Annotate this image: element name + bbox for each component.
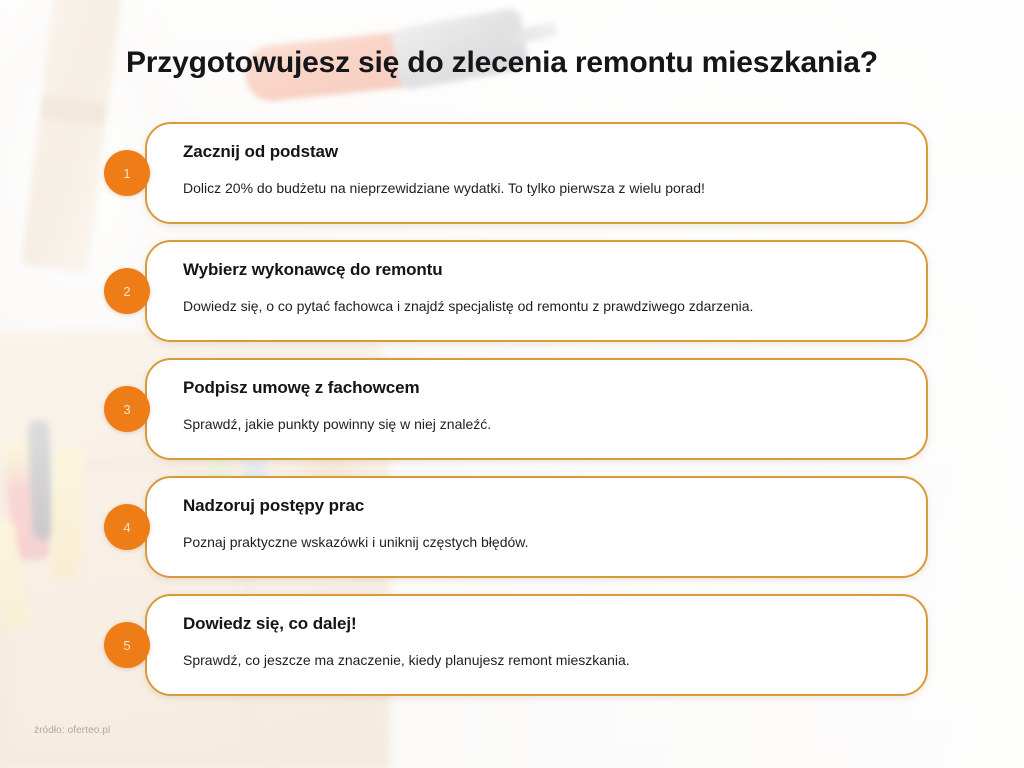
step-card[interactable]: Dowiedz się, co dalej! Sprawdź, co jeszc… [145,594,928,696]
list-item[interactable]: 5 Dowiedz się, co dalej! Sprawdź, co jes… [104,594,928,696]
step-description: Dolicz 20% do budżetu na nieprzewidziane… [183,179,900,198]
step-number-badge: 5 [104,622,150,668]
list-item[interactable]: 2 Wybierz wykonawcę do remontu Dowiedz s… [104,240,928,342]
step-title: Nadzoruj postępy prac [183,496,900,516]
step-title: Wybierz wykonawcę do remontu [183,260,900,280]
step-number-badge: 3 [104,386,150,432]
step-description: Sprawdź, jakie punkty powinny się w niej… [183,415,900,434]
list-item[interactable]: 1 Zacznij od podstaw Dolicz 20% do budże… [104,122,928,224]
list-item[interactable]: 4 Nadzoruj postępy prac Poznaj praktyczn… [104,476,928,578]
step-card[interactable]: Wybierz wykonawcę do remontu Dowiedz się… [145,240,928,342]
list-item[interactable]: 3 Podpisz umowę z fachowcem Sprawdź, jak… [104,358,928,460]
source-attribution: źródło: oferteo.pl [34,725,110,736]
step-number-badge: 1 [104,150,150,196]
step-description: Sprawdź, co jeszcze ma znaczenie, kiedy … [183,651,900,670]
step-number-badge: 2 [104,268,150,314]
page-title: Przygotowujesz się do zlecenia remontu m… [126,46,878,80]
infographic-page: Przygotowujesz się do zlecenia remontu m… [0,0,1024,768]
step-number-badge: 4 [104,504,150,550]
step-description: Poznaj praktyczne wskazówki i uniknij cz… [183,533,900,552]
step-card[interactable]: Zacznij od podstaw Dolicz 20% do budżetu… [145,122,928,224]
step-description: Dowiedz się, o co pytać fachowca i znajd… [183,297,900,316]
step-title: Podpisz umowę z fachowcem [183,378,900,398]
steps-list: 1 Zacznij od podstaw Dolicz 20% do budże… [104,122,928,712]
step-card[interactable]: Podpisz umowę z fachowcem Sprawdź, jakie… [145,358,928,460]
step-title: Zacznij od podstaw [183,142,900,162]
step-title: Dowiedz się, co dalej! [183,614,900,634]
step-card[interactable]: Nadzoruj postępy prac Poznaj praktyczne … [145,476,928,578]
